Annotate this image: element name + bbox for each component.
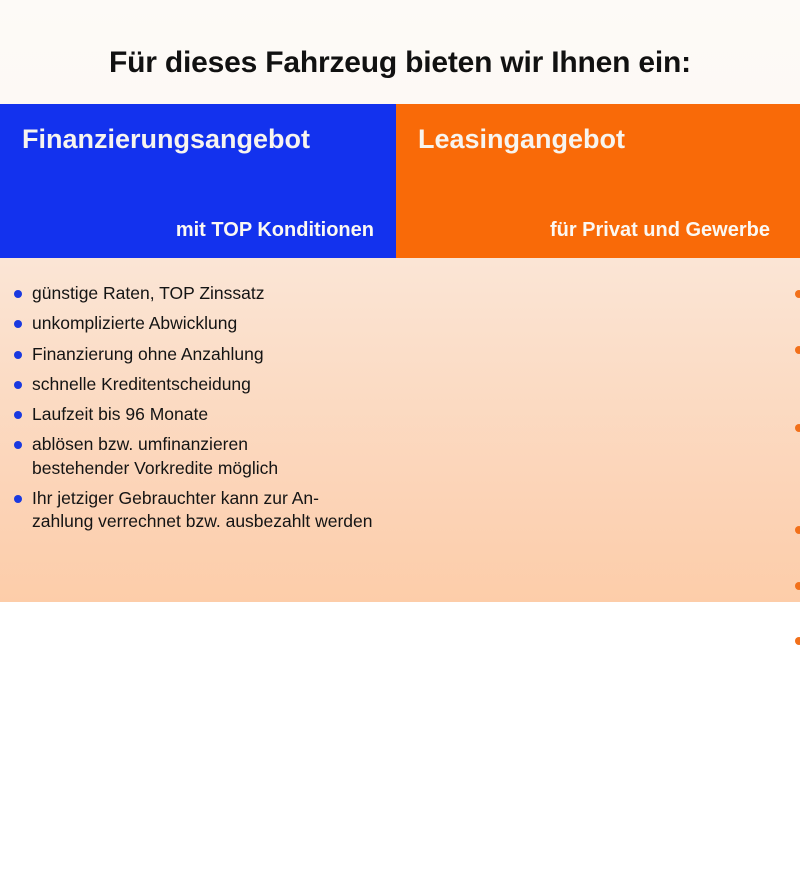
- leasing-column: attraktive Leasingraten ohne Anzahlung m…: [390, 282, 800, 582]
- bullet-text-line1: ablösen bzw. umfinanzieren: [32, 434, 248, 454]
- financing-banner-title: Finanzierungsangebot: [22, 125, 374, 153]
- benefits-columns: günstige Raten, TOP Zinssatz unkomplizie…: [0, 282, 800, 582]
- list-item: unkomplizierte Abwicklung: [11, 312, 382, 335]
- list-item: ohne Anzahlung möglich: [792, 338, 800, 408]
- list-item: Inzahlungnahme möglich: [792, 518, 800, 565]
- list-item: Finanzierung ohne Anzahlung: [11, 343, 382, 366]
- leasing-banner-title: Leasingangebot: [418, 125, 770, 153]
- list-item: Laufzeit bis 60 Monate: [792, 416, 800, 509]
- bullet-text-line1: Finanzierung ohne Anzahlung: [32, 344, 264, 364]
- bullet-text-line2: zahlung verrechnet bzw. ausbezahlt werde…: [32, 510, 382, 533]
- list-item: ablösen bzw. umfinanzieren bestehender V…: [11, 433, 382, 480]
- page-title: Für dieses Fahrzeug bieten wir Ihnen ein…: [109, 46, 691, 80]
- leasing-banner: Leasingangebot für Privat und Gewerbe: [396, 104, 800, 258]
- list-item: Laufzeit bis 96 Monate: [11, 403, 382, 426]
- leasing-banner-subtitle: für Privat und Gewerbe: [418, 219, 770, 242]
- bullet-text-line1: schnelle Kreditentscheidung: [32, 374, 251, 394]
- offer-banner: Finanzierungsangebot mit TOP Konditionen…: [0, 104, 800, 258]
- bullet-text-line2: bestehender Vorkredite möglich: [32, 457, 382, 480]
- financing-column: günstige Raten, TOP Zinssatz unkomplizie…: [0, 282, 390, 582]
- bullet-text-line1: unkomplizierte Abwicklung: [32, 313, 237, 333]
- list-item: günstige Raten, TOP Zinssatz: [11, 282, 382, 305]
- bullet-text-line1: günstige Raten, TOP Zinssatz: [32, 283, 265, 303]
- bullet-text-line1: Ihr jetziger Gebrauchter kann zur An-: [32, 488, 319, 508]
- financing-banner: Finanzierungsangebot mit TOP Konditionen: [0, 104, 396, 258]
- financing-bullet-list: günstige Raten, TOP Zinssatz unkomplizie…: [11, 282, 382, 533]
- bullet-text-line1: Laufzeit bis 96 Monate: [32, 404, 208, 424]
- list-item: unkomplizierte Abwicklung: [792, 574, 800, 621]
- offer-poster: Für dieses Fahrzeug bieten wir Ihnen ein…: [0, 0, 800, 602]
- list-item: Ihr jetziger Gebrauchter kann zur An- za…: [792, 629, 800, 885]
- list-item: Ihr jetziger Gebrauchter kann zur An- za…: [11, 487, 382, 534]
- page-title-area: Für dieses Fahrzeug bieten wir Ihnen ein…: [0, 34, 800, 92]
- list-item: schnelle Kreditentscheidung: [11, 373, 382, 396]
- financing-banner-subtitle: mit TOP Konditionen: [22, 219, 374, 242]
- list-item: attraktive Leasingraten: [792, 282, 800, 329]
